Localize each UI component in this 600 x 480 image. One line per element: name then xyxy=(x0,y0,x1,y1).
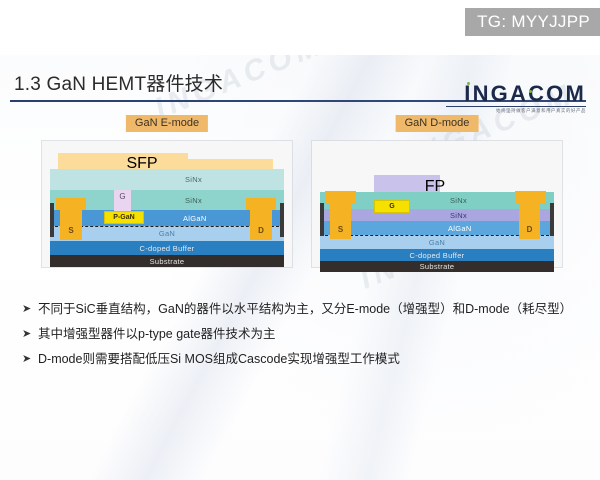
layer-substrate: Substrate xyxy=(320,261,554,272)
top-strip: TG: MYYJJPP xyxy=(0,0,600,55)
layer-gan: GaN xyxy=(50,226,284,241)
source-sidewall xyxy=(320,203,324,236)
device-cross-section-d-mode: FP SiNx SiNx AlGaN GaN xyxy=(312,141,562,267)
bullet-text: 不同于SiC垂直结构，GaN的器件以水平结构为主，又分E-mode（增强型）和D… xyxy=(38,300,572,318)
device-cross-section-e-mode: SFP SiNx SiNx AlGaN GaN xyxy=(42,141,292,267)
gate-p-gan-box: P-GaN xyxy=(104,211,144,224)
logo-accent-dot-2 xyxy=(529,90,532,93)
source-label: S xyxy=(330,225,351,234)
bullet-list: ➤ 不同于SiC垂直结构，GaN的器件以水平结构为主，又分E-mode（增强型）… xyxy=(22,300,582,375)
layer-substrate: Substrate xyxy=(50,255,284,267)
layer-sinx-top: SiNx xyxy=(50,169,284,190)
drain-sidewall xyxy=(550,203,554,236)
layer-c-doped-buffer: C-doped Buffer xyxy=(320,249,554,261)
logo-tagline: 始终坚持做客户满意和用户真实的好产品 xyxy=(466,107,586,115)
logo-accent-dot xyxy=(467,82,470,85)
source-electrode-head xyxy=(325,191,356,204)
tg-banner: TG: MYYJJPP xyxy=(465,8,600,36)
diagram-title-d-mode: GaN D-mode xyxy=(396,115,479,132)
layer-c-doped-buffer: C-doped Buffer xyxy=(50,241,284,255)
gate-box-d-mode: G xyxy=(374,200,410,213)
bullet-item: ➤ 不同于SiC垂直结构，GaN的器件以水平结构为主，又分E-mode（增强型）… xyxy=(22,300,582,318)
bullet-arrow-icon: ➤ xyxy=(22,325,38,343)
bullet-text: D-mode则需要搭配低压Si MOS组成Cascode实现增强型工作模式 xyxy=(38,350,400,368)
brand-logo: INGACOM 始终坚持做客户满意和用户真实的好产品 xyxy=(446,81,586,115)
layer-algan: AlGaN xyxy=(50,210,284,226)
drain-label: D xyxy=(250,226,272,235)
source-label: S xyxy=(60,226,82,235)
bullet-arrow-icon: ➤ xyxy=(22,300,38,318)
bullet-arrow-icon: ➤ xyxy=(22,350,38,368)
slide-header: 1.3 GaN HEMT器件技术 INGACOM 始终坚持做客户满意和用户真实的… xyxy=(0,67,600,109)
bullet-item: ➤ 其中增强型器件以p-type gate器件技术为主 xyxy=(22,325,582,343)
drain-label: D xyxy=(519,225,540,234)
drain-electrode-head xyxy=(246,198,276,210)
two-deg-line xyxy=(50,226,284,227)
slide-page: INGACOM INGACOM INGACOM INGACOM 1.3 GaN … xyxy=(0,55,600,480)
source-sidewall xyxy=(50,203,54,237)
bullet-text: 其中增强型器件以p-type gate器件技术为主 xyxy=(38,325,276,343)
bullet-item: ➤ D-mode则需要搭配低压Si MOS组成Cascode实现增强型工作模式 xyxy=(22,350,582,368)
source-electrode-head xyxy=(56,198,86,210)
page-title: 1.3 GaN HEMT器件技术 xyxy=(14,69,223,96)
diagram-e-mode: GaN E-mode SFP SiNx SiNx AlGaN xyxy=(36,115,298,270)
drain-sidewall xyxy=(280,203,284,237)
drain-electrode-head xyxy=(515,191,546,204)
diagram-d-mode: GaN D-mode FP SiNx SiNx AlGaN xyxy=(306,115,568,270)
diagram-title-e-mode: GaN E-mode xyxy=(126,115,208,132)
logo-wordmark: INGACOM xyxy=(464,81,586,107)
